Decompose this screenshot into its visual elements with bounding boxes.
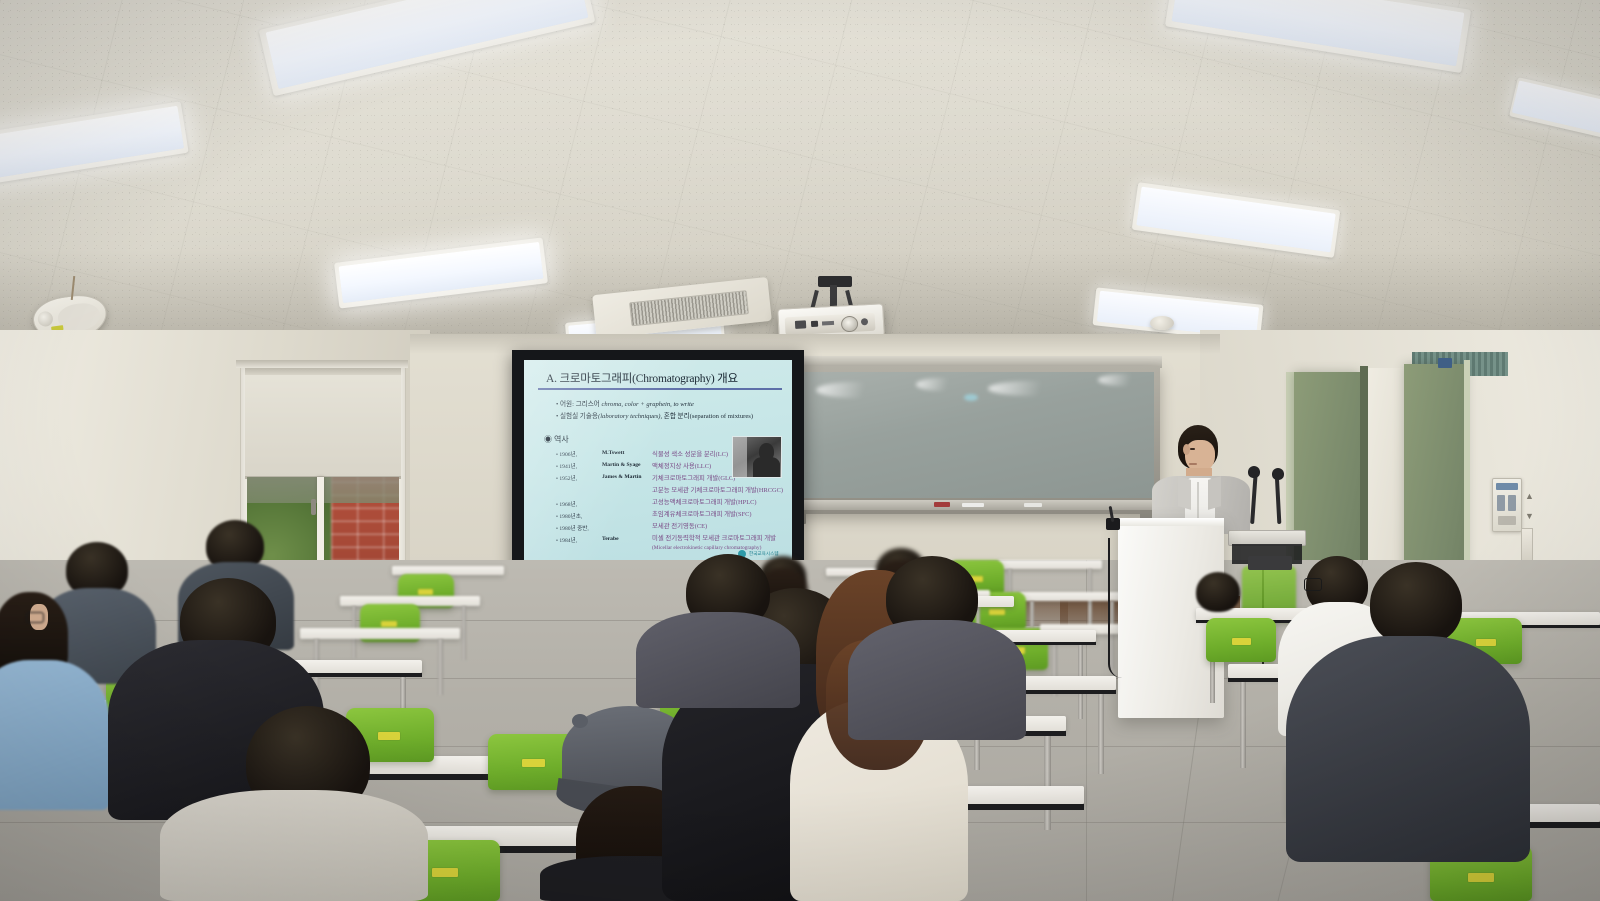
student-body — [1286, 636, 1530, 862]
student-glasses — [26, 612, 44, 623]
projection-screen: A. 크로마토그래피(Chromatography) 개요 • 어원: 그리스어… — [512, 350, 804, 572]
history-year-1: • 1941년, — [556, 462, 577, 470]
student-head — [1370, 562, 1462, 646]
student-glasses — [1304, 578, 1322, 591]
student-body — [160, 790, 428, 901]
history-person-0: M.Tswett — [602, 450, 624, 456]
slide-bullet-1: • 어원: 그리스어 chroma, color + graphein, to … — [556, 398, 694, 408]
student-head — [1196, 572, 1240, 612]
history-person-7: Terabe — [602, 536, 619, 542]
history-person-2: James & Martin — [602, 474, 641, 480]
podium-top — [1118, 518, 1224, 526]
bullet-2-lead: • 실험실 기술응 — [556, 413, 598, 420]
presenter-ear — [1183, 444, 1190, 455]
history-desc-3: 고분능 모세관 기체크로마토그래피 개발(HRCGC) — [652, 485, 783, 494]
slide-bullet-2: • 실험실 기술응(laboratory techniques), 혼합 분리(… — [556, 410, 753, 420]
history-desc-4: 고성능액체크로마토그래피 개발(HPLC) — [652, 497, 757, 506]
chair[interactable] — [1206, 618, 1276, 662]
history-year-7: • 1984년, — [556, 536, 577, 544]
desk — [998, 560, 1102, 569]
power-cable — [1108, 538, 1132, 678]
door-closer — [1438, 358, 1452, 368]
up-arrow-icon: ▲ — [1525, 492, 1534, 501]
presenter-eye — [1190, 448, 1195, 450]
classroom-photo: ▲ ▼ A. 크로마토그래피(Chromatography) 개요 • 어원: … — [0, 0, 1600, 901]
history-desc-2: 기체크로마토그래피 개발(GLC) — [652, 473, 735, 482]
history-year-5: • 1980년초, — [556, 512, 582, 520]
microphone[interactable] — [1272, 468, 1284, 480]
microphone[interactable] — [1248, 466, 1260, 478]
desk — [300, 628, 460, 639]
history-year-4: • 1968년, — [556, 500, 577, 508]
history-note: (Micellar electrokinetic capillary chrom… — [652, 545, 761, 551]
presentation-slide: A. 크로마토그래피(Chromatography) 개요 • 어원: 그리스어… — [524, 360, 792, 564]
student-body — [636, 612, 800, 708]
student-body — [0, 660, 110, 810]
history-year-6: • 1980년 중반, — [556, 524, 589, 532]
bullet-1-lead: • 어원: 그리스어 — [556, 401, 601, 408]
chalkboard — [792, 366, 1160, 514]
history-desc-6: 모세관 전기영동(CE) — [652, 521, 707, 530]
window-blind[interactable] — [245, 370, 401, 479]
bullet-1-italic: chroma, color + graphein, to write — [601, 401, 693, 408]
slide-section-heading: ◉ 역사 — [544, 434, 569, 445]
jacket-lapel — [1178, 476, 1191, 510]
bullet-2-tail: , 혼합 분리(separation of mixtures) — [660, 413, 753, 420]
presenter-mouth — [1189, 463, 1197, 465]
history-year-0: • 1906년, — [556, 450, 577, 458]
window-header — [236, 360, 408, 368]
history-desc-5: 초임계유체크로마토그래피 개발(SFC) — [652, 509, 752, 518]
slide-title-rule — [538, 388, 782, 390]
slide-title: A. 크로마토그래피(Chromatography) 개요 — [546, 370, 738, 386]
history-person-1: Martin & Syage — [602, 462, 641, 468]
stacked-chair-frame — [1248, 556, 1292, 570]
history-desc-1: 액체정지상 사용(LLC) — [652, 461, 711, 470]
jacket-lapel — [1208, 476, 1221, 510]
wall-control-panel[interactable] — [1492, 478, 1522, 532]
down-arrow-icon: ▼ — [1525, 512, 1534, 521]
history-desc-7: 미셀 전기동력학적 모세관 크로마토그래피 개발 — [652, 533, 776, 542]
student-body — [848, 620, 1026, 740]
ceiling-dome-light — [1150, 316, 1174, 330]
window-latch[interactable] — [311, 499, 316, 515]
blind-roller — [245, 367, 401, 375]
chalkboard-surface — [798, 372, 1154, 498]
bullet-2-italic: (laboratory techniques) — [598, 413, 660, 420]
slide-portrait-photo — [732, 436, 782, 478]
chalk-tray — [794, 500, 1158, 510]
cap-button — [572, 714, 588, 728]
history-desc-0: 식물성 색소 성분을 분리(LC) — [652, 449, 728, 458]
history-year-2: • 1952년, — [556, 474, 577, 482]
slide-logo-text: 한국교육시스템 — [749, 551, 779, 557]
wall-switch[interactable] — [1521, 528, 1533, 564]
